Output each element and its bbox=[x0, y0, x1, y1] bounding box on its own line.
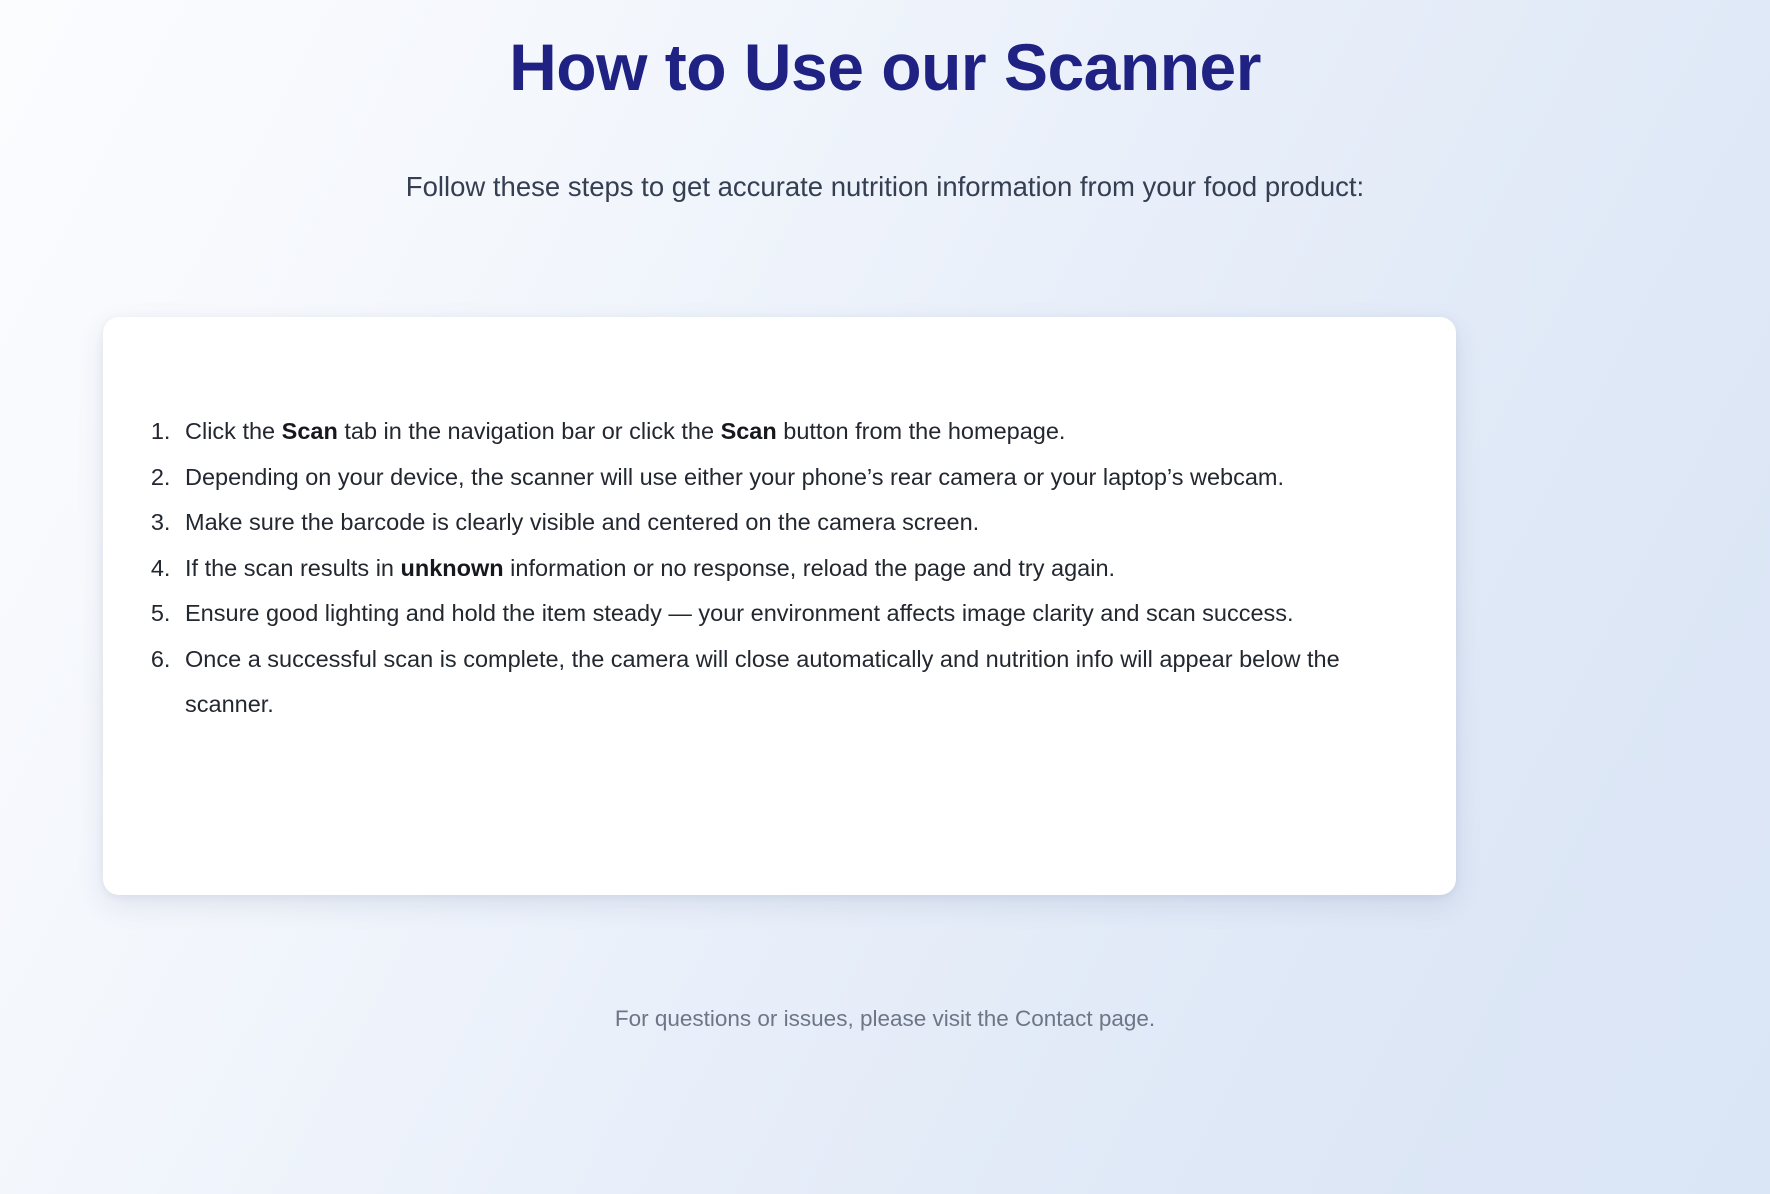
step-text: Once a successful scan is complete, the … bbox=[185, 646, 1340, 718]
instructions-card: Click the Scan tab in the navigation bar… bbox=[103, 317, 1456, 895]
step-text: tab in the navigation bar or click the bbox=[338, 418, 721, 444]
steps-list: Click the Scan tab in the navigation bar… bbox=[103, 317, 1456, 728]
how-to-use-scanner-page: How to Use our Scanner Follow these step… bbox=[0, 0, 1770, 1194]
step-text: Make sure the barcode is clearly visible… bbox=[185, 509, 979, 535]
step-item: Once a successful scan is complete, the … bbox=[177, 637, 1396, 728]
step-emphasis: Scan bbox=[282, 418, 338, 444]
step-item: Ensure good lighting and hold the item s… bbox=[177, 591, 1396, 637]
step-item: Make sure the barcode is clearly visible… bbox=[177, 500, 1396, 546]
step-text: If the scan results in bbox=[185, 555, 401, 581]
footer-note: For questions or issues, please visit th… bbox=[0, 1003, 1770, 1035]
step-text: Click the bbox=[185, 418, 282, 444]
step-emphasis: Scan bbox=[721, 418, 777, 444]
page-subtitle: Follow these steps to get accurate nutri… bbox=[0, 106, 1770, 207]
step-item: If the scan results in unknown informati… bbox=[177, 546, 1396, 592]
step-emphasis: unknown bbox=[401, 555, 504, 581]
step-text: button from the homepage. bbox=[777, 418, 1066, 444]
page-title: How to Use our Scanner bbox=[0, 0, 1770, 106]
step-text: Ensure good lighting and hold the item s… bbox=[185, 600, 1294, 626]
step-text: Depending on your device, the scanner wi… bbox=[185, 464, 1284, 490]
step-item: Click the Scan tab in the navigation bar… bbox=[177, 409, 1396, 455]
step-text: information or no response, reload the p… bbox=[504, 555, 1115, 581]
step-item: Depending on your device, the scanner wi… bbox=[177, 455, 1396, 501]
